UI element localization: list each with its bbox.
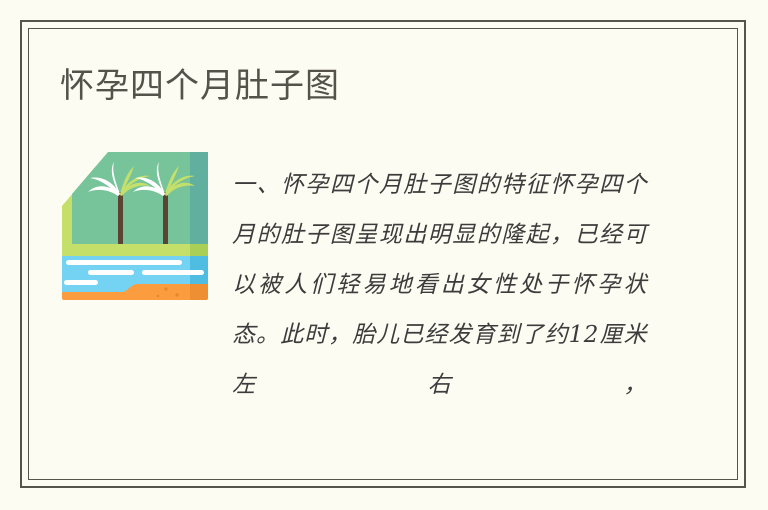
- page-root: 怀孕四个月肚子图: [0, 0, 768, 510]
- article-content: 一、怀孕四个月肚子图的特征怀孕四个月的肚子图呈现出明显的隆起，已经可以被人们轻易…: [60, 146, 680, 406]
- beach-island-icon: [62, 148, 208, 300]
- page-title: 怀孕四个月肚子图: [60, 64, 340, 108]
- beach-island-illustration: [62, 148, 208, 300]
- article-body-text: 一、怀孕四个月肚子图的特征怀孕四个月的肚子图呈现出明显的隆起，已经可以被人们轻易…: [232, 160, 647, 410]
